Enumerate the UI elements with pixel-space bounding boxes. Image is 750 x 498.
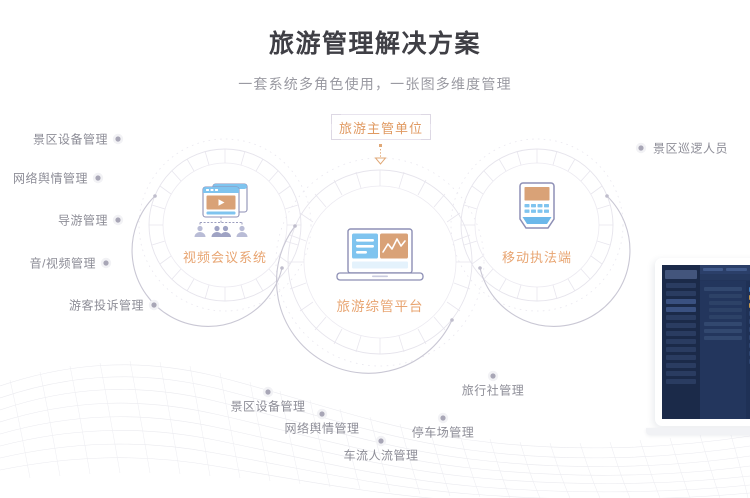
authority-arrow: [376, 144, 386, 164]
node-label-bottom-4[interactable]: 旅行社管理: [462, 382, 525, 399]
dashboard-sidebar-item: [666, 355, 696, 360]
node-label-right-0[interactable]: 景区巡逻人员: [653, 140, 728, 157]
authority-badge-label: 旅游主管单位: [339, 118, 423, 137]
dashboard-tree: [700, 281, 746, 419]
laptop-screen: [655, 258, 750, 426]
background-mesh-wave: [0, 328, 750, 498]
dashboard-tabs: [700, 274, 750, 280]
dashboard-brand: [665, 270, 697, 279]
authority-badge[interactable]: 旅游主管单位: [331, 114, 431, 140]
dashboard-body: [700, 281, 750, 419]
node-label-left-4[interactable]: 游客投诉管理: [69, 297, 144, 314]
node-label-left-1[interactable]: 网络舆情管理: [13, 170, 88, 187]
video-conference-icon: [189, 180, 261, 240]
hub-mobile-law-label: 移动执法端: [481, 247, 593, 266]
solution-infographic: 旅游管理解决方案 一套系统多角色使用，一张图多维度管理 旅游主管单位: [0, 0, 750, 498]
page-title: 旅游管理解决方案: [0, 0, 750, 60]
dashboard-sidebar-item: [666, 315, 696, 320]
node-label-bottom-0[interactable]: 景区设备管理: [230, 398, 305, 415]
header: 旅游管理解决方案 一套系统多角色使用，一张图多维度管理: [0, 0, 750, 94]
hub-video-conference-label: 视频会议系统: [169, 247, 281, 266]
dashboard-sidebar-item: [666, 363, 696, 368]
dashboard-topbar: [700, 265, 750, 274]
dashboard-laptop-mockup: [655, 258, 750, 435]
dashboard-sidebar-item: [666, 347, 696, 352]
mobile-device-icon: [510, 180, 564, 240]
hub-platform-label: 旅游综管平台: [318, 295, 442, 315]
dashboard-sidebar-item: [666, 299, 696, 304]
dashboard-sidebar-item: [666, 331, 696, 336]
laptop-platform-icon: [332, 226, 428, 288]
hub-mobile-law[interactable]: 移动执法端: [481, 180, 593, 266]
node-label-bottom-1[interactable]: 网络舆情管理: [284, 420, 359, 437]
dashboard-sidebar-item: [666, 307, 696, 312]
laptop-base: [646, 428, 750, 435]
hub-platform[interactable]: 旅游综管平台: [318, 226, 442, 315]
dashboard-sidebar-item: [666, 379, 696, 384]
dashboard-sidebar-item: [666, 291, 696, 296]
dashboard-sidebar-item: [666, 283, 696, 288]
dashboard-sidebar-item: [666, 323, 696, 328]
dashboard-sidebar-item: [666, 339, 696, 344]
dashboard-sidebar-item: [666, 371, 696, 376]
node-label-left-3[interactable]: 音/视频管理: [30, 255, 96, 272]
page-subtitle: 一套系统多角色使用，一张图多维度管理: [0, 60, 750, 94]
node-label-left-0[interactable]: 景区设备管理: [33, 131, 108, 148]
dashboard-ui: [662, 265, 750, 419]
dashboard-main: [700, 265, 750, 419]
node-label-left-2[interactable]: 导游管理: [58, 212, 108, 229]
dashboard-sidebar: [662, 265, 700, 419]
node-label-bottom-3[interactable]: 停车场管理: [412, 424, 475, 441]
hub-video-conference[interactable]: 视频会议系统: [169, 180, 281, 266]
dashboard-grid: [746, 281, 750, 419]
node-label-bottom-2[interactable]: 车流人流管理: [343, 447, 418, 464]
